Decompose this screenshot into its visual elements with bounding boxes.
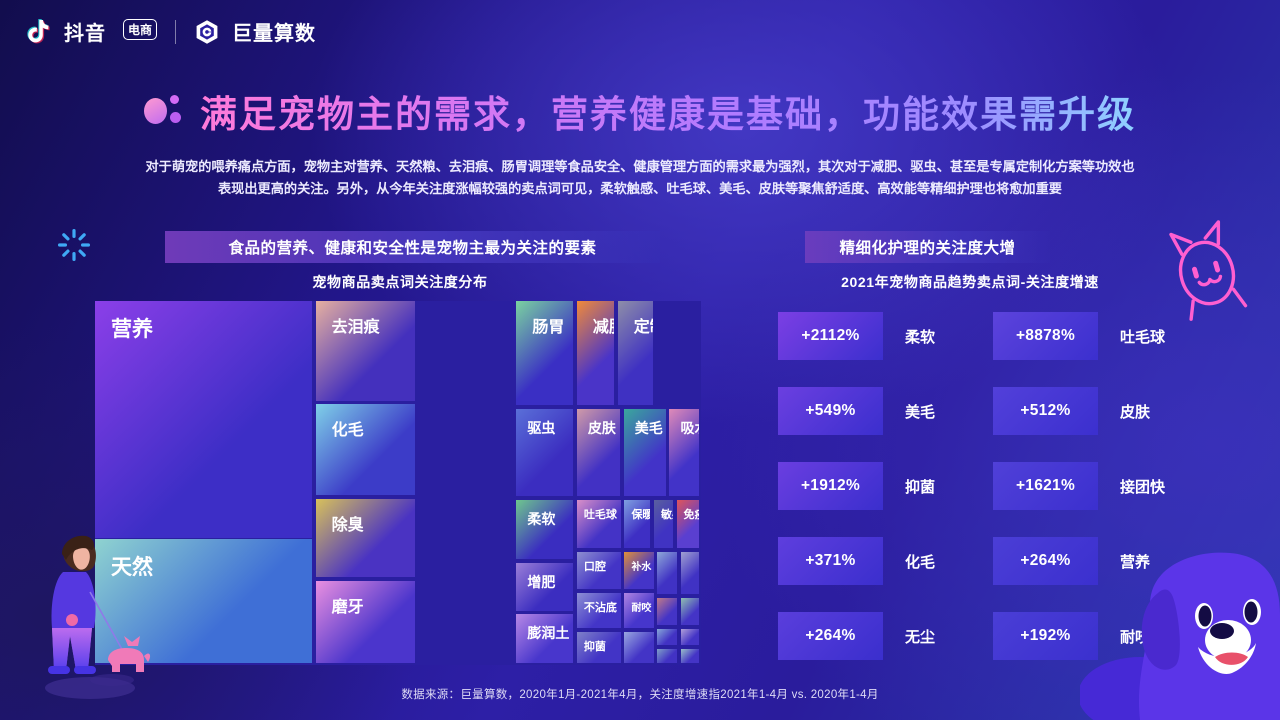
treemap-tile-label: 不沾底 <box>584 599 617 615</box>
treemap-tile[interactable]: 化毛 <box>316 404 415 494</box>
treemap-tile[interactable]: 去泪痕 <box>316 301 415 401</box>
treemap-tile-label: 耐咬 <box>631 599 651 614</box>
growth-keyword-label: 抑菌 <box>905 476 935 497</box>
growth-row[interactable]: +8878%吐毛球 <box>993 312 1165 360</box>
treemap-tile[interactable]: 不沾底 <box>577 593 621 628</box>
treemap-tile-unlabeled[interactable] <box>657 629 678 645</box>
music-note-icon <box>26 18 52 46</box>
growth-value-chip: +8878% <box>993 312 1098 360</box>
treemap-tile-unlabeled[interactable] <box>657 649 678 664</box>
growth-row[interactable]: +1621%接团快 <box>993 462 1165 510</box>
treemap-tile[interactable]: 除臭 <box>316 499 415 577</box>
brand-divider <box>175 20 176 44</box>
treemap-tile-unlabeled[interactable] <box>681 552 699 594</box>
treemap-tile[interactable]: 定制 <box>618 301 653 405</box>
treemap-tile-label: 皮肤 <box>588 418 616 438</box>
treemap-tile[interactable]: 膨润土 <box>516 614 573 663</box>
lede-paragraph: 对于萌宠的喂养痛点方面，宠物主对营养、天然粮、去泪痕、肠胃调理等食品安全、健康管… <box>34 156 1246 200</box>
treemap-tile[interactable]: 美毛 <box>624 409 666 495</box>
treemap-tile-label: 免疫 <box>684 506 700 522</box>
treemap-tile-label: 柔软 <box>527 509 555 529</box>
treemap-tile-label: 补水 <box>631 558 651 573</box>
treemap-tile-label: 定制 <box>634 313 653 337</box>
treemap-tile[interactable]: 吸水 <box>669 409 699 495</box>
growth-row[interactable]: +371%化毛 <box>778 537 935 585</box>
growth-keyword-label: 化毛 <box>905 551 935 572</box>
growth-value-chip: +549% <box>778 387 883 435</box>
treemap-tile-label: 驱虫 <box>527 418 555 438</box>
sparkle-icon <box>57 228 91 262</box>
treemap-chart: 营养天然去泪痕化毛除臭磨牙肠胃减肥定制驱虫皮肤美毛吸水柔软增肥膨润土吐毛球保暖敏… <box>95 301 701 665</box>
treemap-tile[interactable]: 皮肤 <box>577 409 620 495</box>
growth-row[interactable]: +1912%抑菌 <box>778 462 935 510</box>
treemap-tile[interactable]: 营养 <box>95 301 312 538</box>
treemap-tile-label: 口腔 <box>584 558 606 574</box>
treemap-tile[interactable]: 免疫 <box>677 500 700 548</box>
treemap-tile-label: 保暖 <box>631 506 650 522</box>
page-title: 满足宠物主的需求，营养健康是基础，功能效果需升级 <box>200 84 1136 138</box>
growth-row[interactable]: +512%皮肤 <box>993 387 1150 435</box>
growth-value-chip: +512% <box>993 387 1098 435</box>
growth-value-chip: +371% <box>778 537 883 585</box>
treemap-tile-label: 抑菌 <box>584 638 606 654</box>
treemap-tile[interactable]: 驱虫 <box>516 409 573 495</box>
dog-illustration-icon <box>1080 545 1280 720</box>
growth-row[interactable]: +264%无尘 <box>778 612 935 660</box>
growth-row[interactable]: +549%美毛 <box>778 387 935 435</box>
growth-value-chip: +2112% <box>778 312 883 360</box>
chart-caption-right: 2021年宠物商品趋势卖点词-关注度增速 <box>770 272 1170 292</box>
treemap-tile-label: 增肥 <box>527 572 555 592</box>
treemap-tile[interactable]: 保暖 <box>624 500 650 548</box>
lede-line-2: 表现出更高的关注。另外，从今年关注度涨幅较强的卖点词可见，柔软触感、吐毛球、美毛… <box>34 178 1246 200</box>
treemap-tile-label: 去泪痕 <box>332 313 380 337</box>
treemap-tile-label: 肠胃 <box>532 313 564 337</box>
growth-keyword-label: 无尘 <box>905 626 935 647</box>
page-title-row: 满足宠物主的需求，营养健康是基础，功能效果需升级 <box>0 84 1280 138</box>
slide-canvas: 抖音 电商 巨量算数 满足宠物主的需求，营养健康是基础，功能效果需升级 对于萌宠… <box>0 0 1280 720</box>
treemap-tile-unlabeled[interactable] <box>681 629 699 645</box>
treemap-tile[interactable]: 柔软 <box>516 500 573 558</box>
treemap-tile-label: 吐毛球 <box>584 506 617 522</box>
growth-keyword-label: 吐毛球 <box>1120 326 1165 347</box>
treemap-tile-label: 化毛 <box>332 416 364 440</box>
treemap-tile[interactable]: 耐咬 <box>624 593 653 628</box>
treemap-tile-label: 美毛 <box>635 418 663 438</box>
treemap-tile-unlabeled[interactable] <box>624 632 653 664</box>
treemap-tile-label: 膨润土 <box>527 623 569 643</box>
treemap-tile[interactable]: 磨牙 <box>316 581 415 663</box>
treemap-tile-label: 除臭 <box>332 511 364 535</box>
treemap-tile-unlabeled[interactable] <box>657 598 678 626</box>
treemap-tile-unlabeled[interactable] <box>657 552 678 594</box>
treemap-tile-label: 敏感 <box>661 506 673 522</box>
growth-value-chip: +1912% <box>778 462 883 510</box>
treemap-tile[interactable]: 抑菌 <box>577 632 621 664</box>
treemap-tile-label: 营养 <box>111 313 153 343</box>
brand-name-douyin: 抖音 <box>64 17 106 46</box>
treemap-tile[interactable]: 肠胃 <box>516 301 573 405</box>
treemap-tile[interactable]: 口腔 <box>577 552 621 590</box>
treemap-tile[interactable]: 敏感 <box>654 500 673 548</box>
treemap-tile-unlabeled[interactable] <box>681 649 699 664</box>
neon-cat-icon <box>1152 218 1262 328</box>
section-pill-right: 精细化护理的关注度大增 <box>805 231 1050 263</box>
treemap-tile-label: 吸水 <box>680 418 699 438</box>
lede-line-1: 对于萌宠的喂养痛点方面，宠物主对营养、天然粮、去泪痕、肠胃调理等食品安全、健康管… <box>34 156 1246 178</box>
growth-keyword-label: 接团快 <box>1120 476 1165 497</box>
treemap-tile[interactable]: 补水 <box>624 552 653 590</box>
brand-bar: 抖音 电商 巨量算数 <box>26 17 316 46</box>
bubble-dots-icon <box>144 94 186 128</box>
growth-value-chip: +264% <box>778 612 883 660</box>
treemap-tile[interactable]: 增肥 <box>516 563 573 611</box>
treemap-tile-unlabeled[interactable] <box>681 598 699 626</box>
treemap-tile-label: 减肥 <box>593 313 614 337</box>
chart-caption-left: 宠物商品卖点词关注度分布 <box>95 272 705 292</box>
brand-badge-ecommerce: 电商 <box>123 19 157 40</box>
treemap-tile-label: 磨牙 <box>332 593 364 617</box>
brand-name-oceanengine: 巨量算数 <box>232 17 316 46</box>
treemap-tile[interactable]: 减肥 <box>577 301 614 405</box>
hexagon-logo-icon <box>194 19 220 45</box>
section-pill-left: 食品的营养、健康和安全性是宠物主最为关注的要素 <box>165 231 660 263</box>
treemap-tile[interactable]: 吐毛球 <box>577 500 621 548</box>
growth-keyword-label: 美毛 <box>905 401 935 422</box>
growth-value-chip: +1621% <box>993 462 1098 510</box>
growth-row[interactable]: +2112%柔软 <box>778 312 935 360</box>
growth-keyword-label: 柔软 <box>905 326 935 347</box>
growth-keyword-label: 皮肤 <box>1120 401 1150 422</box>
person-walking-dog-icon <box>32 520 167 700</box>
